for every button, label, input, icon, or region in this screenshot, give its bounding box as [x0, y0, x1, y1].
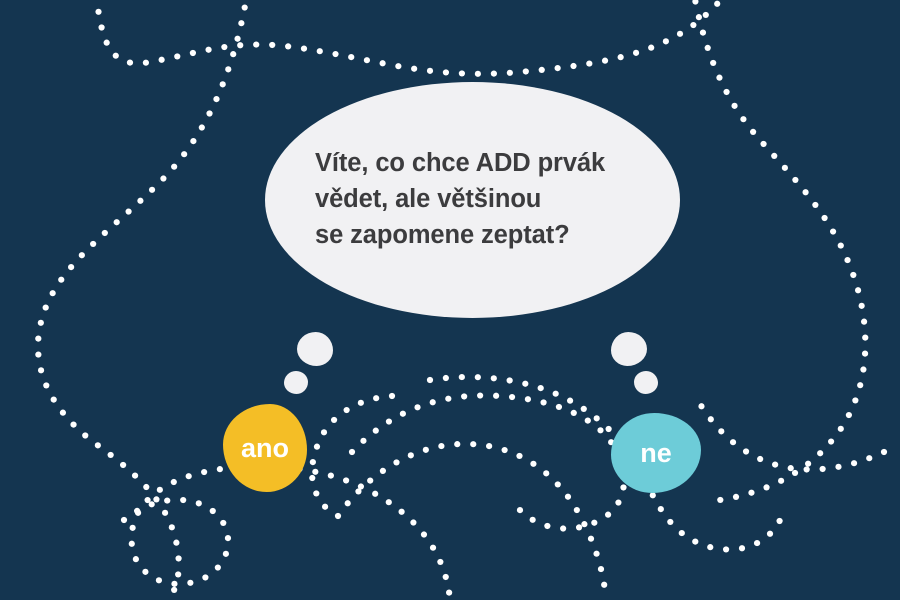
answer-button-no[interactable]: ne	[611, 413, 701, 493]
bubble-tail-dot-left-small	[284, 371, 308, 394]
question-speech-bubble: Víte, co chce ADD prvák vědet, ale větši…	[265, 82, 680, 318]
poll-card: Víte, co chce ADD prvák vědet, ale větši…	[0, 0, 900, 600]
bubble-tail-dot-left-large	[297, 332, 333, 366]
bubble-tail-dot-right-large	[611, 332, 647, 366]
answer-button-yes[interactable]: ano	[223, 404, 307, 492]
answer-button-yes-label: ano	[241, 433, 289, 464]
bubble-tail-dot-right-small	[634, 371, 658, 394]
answer-button-no-label: ne	[640, 438, 672, 469]
question-text: Víte, co chce ADD prvák vědet, ale větši…	[315, 146, 605, 253]
